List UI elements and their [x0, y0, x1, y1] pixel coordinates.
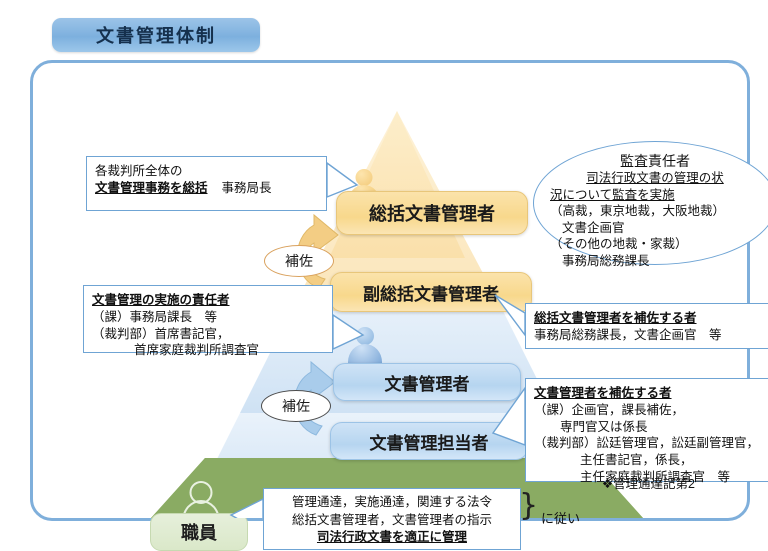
- callout-audit-line6: 事務局総務課長: [548, 253, 762, 270]
- callout-left-mid-heading: 文書管理の実施の責任者: [92, 292, 324, 309]
- callout-right-bottom-line3: （裁判部）訟廷管理官，訟廷副管理官，: [534, 435, 768, 452]
- callout-bottom-line3: 司法行政文書を適正に管理: [271, 529, 513, 547]
- level-1-box[interactable]: 総括文書管理者: [336, 191, 528, 235]
- person-head: [356, 327, 374, 345]
- callout-right-bottom-line4: 主任書記官，係長，: [534, 452, 768, 469]
- level-3-box[interactable]: 文書管理者: [333, 363, 521, 401]
- callout-audit-title: 監査責任者: [548, 152, 762, 170]
- person-icon-staff: [183, 481, 219, 517]
- callout-right-bottom-line1: （課）企画官，課長補佐，: [534, 402, 768, 419]
- person-body: [348, 344, 382, 363]
- callout-right-top: 総括文書管理者を補佐する者 事務局総務課長，文書企画官 等: [525, 303, 768, 349]
- callout-left-top: 各裁判所全体の 文書管理事務を総括 事務局長: [86, 156, 327, 211]
- staff-box[interactable]: 職員: [150, 513, 248, 551]
- callout-left-mid: 文書管理の実施の責任者 （課）事務局課長 等 （裁判部）首席書記官， 首席家庭裁…: [83, 285, 333, 353]
- callout-right-bottom-heading: 文書管理者を補佐する者: [534, 385, 768, 402]
- assist-label-upper: 補佐: [264, 245, 334, 277]
- diagram-root: 文書管理体制: [0, 0, 768, 540]
- callout-right-bottom-line2: 専門官又は係長: [534, 419, 768, 436]
- callout-bottom: 管理通達，実施通達，関連する法令 総括文書管理者，文書管理者の指示 司法行政文書…: [263, 488, 521, 550]
- callout-audit-oval: 監査責任者 司法行政文書の管理の状 況について監査を実施 （高裁，東京地裁，大阪…: [533, 141, 768, 265]
- callout-right-top-heading: 総括文書管理者を補佐する者: [534, 310, 768, 327]
- callout-left-mid-line1: （課）事務局課長 等: [92, 309, 324, 326]
- page-title: 文書管理体制: [52, 18, 260, 52]
- callout-audit-line3: （高裁，東京地裁，大阪地裁）: [548, 203, 762, 220]
- person-head: [356, 169, 373, 186]
- callout-bottom-line1: 管理通達，実施通達，関連する法令: [271, 494, 513, 512]
- callout-left-mid-line2: （裁判部）首席書記官，: [92, 326, 324, 343]
- callout-audit-line5: （その他の地裁・家裁）: [548, 236, 762, 253]
- callout-left-top-line1: 各裁判所全体の: [95, 163, 318, 180]
- callout-left-mid-line3: 首席家庭裁判所調査官: [92, 342, 324, 359]
- callout-audit-line1: 司法行政文書の管理の状: [548, 170, 762, 187]
- callout-bottom-line2: 総括文書管理者，文書管理者の指示: [271, 512, 513, 530]
- callout-left-top-line2: 文書管理事務を総括: [95, 180, 208, 197]
- brace-glyph: }: [519, 491, 538, 521]
- follow-label: に従い: [541, 508, 580, 527]
- callout-audit-line2: 況について監査を実施: [548, 187, 762, 204]
- level-2-box[interactable]: 副総括文書管理者: [330, 272, 532, 312]
- level-4-box[interactable]: 文書管理担当者: [330, 422, 528, 460]
- assist-label-lower: 補佐: [261, 390, 331, 422]
- callout-right-top-line1: 事務局総務課長，文書企画官 等: [534, 327, 768, 344]
- callout-audit-line4: 文書企画官: [548, 220, 762, 237]
- diagram-frame: 総括文書管理者 副総括文書管理者 文書管理者 文書管理担当者 職員 補佐 補佐 …: [30, 60, 750, 521]
- footer-note: ❖管理通達記第2: [602, 473, 695, 492]
- person-icon-blue: [347, 327, 383, 361]
- callout-left-top-role: 事務局長: [222, 180, 272, 197]
- callout-right-bottom: 文書管理者を補佐する者 （課）企画官，課長補佐， 専門官又は係長 （裁判部）訟廷…: [525, 378, 768, 482]
